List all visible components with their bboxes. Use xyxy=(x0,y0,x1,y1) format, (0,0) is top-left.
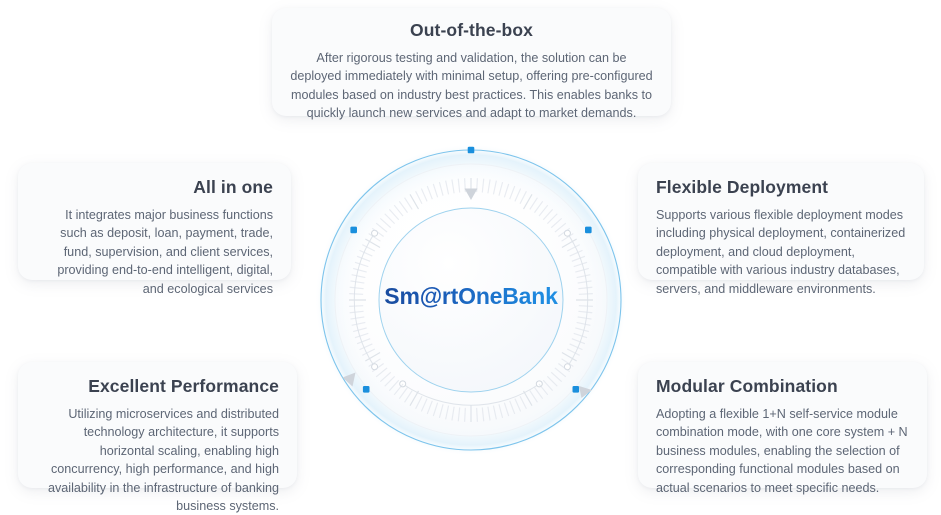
card-title-all-in-one: All in one xyxy=(36,177,273,199)
feature-card-all-in-one[interactable]: All in one It integrates major business … xyxy=(18,163,291,280)
feature-card-modular-combination[interactable]: Modular Combination Adopting a flexible … xyxy=(638,362,927,488)
accent-dot-top xyxy=(468,147,475,154)
feature-card-out-of-the-box[interactable]: Out-of-the-box After rigorous testing an… xyxy=(272,8,671,116)
accent-dot-upper-right xyxy=(585,227,592,234)
card-title-excellent-performance: Excellent Performance xyxy=(36,376,279,398)
inner-ring xyxy=(379,208,563,392)
feature-card-excellent-performance[interactable]: Excellent Performance Utilizing microser… xyxy=(18,362,297,488)
concentric-rings-svg xyxy=(311,140,631,460)
card-title-flexible-deployment: Flexible Deployment xyxy=(656,177,906,199)
accent-dot-lower-right xyxy=(573,386,580,393)
card-title-out-of-the-box: Out-of-the-box xyxy=(290,20,653,42)
card-body-out-of-the-box: After rigorous testing and validation, t… xyxy=(290,49,653,123)
feature-card-flexible-deployment[interactable]: Flexible Deployment Supports various fle… xyxy=(638,163,924,280)
card-body-flexible-deployment: Supports various flexible deployment mod… xyxy=(656,206,906,298)
card-body-all-in-one: It integrates major business functions s… xyxy=(36,206,273,298)
card-title-modular-combination: Modular Combination xyxy=(656,376,909,398)
center-graphic: Sm@rtOneBank xyxy=(311,140,631,460)
card-body-excellent-performance: Utilizing microservices and distributed … xyxy=(36,405,279,515)
accent-dot-lower-left xyxy=(363,386,370,393)
accent-dot-upper-left xyxy=(350,227,357,234)
card-body-modular-combination: Adopting a flexible 1+N self-service mod… xyxy=(656,405,909,497)
